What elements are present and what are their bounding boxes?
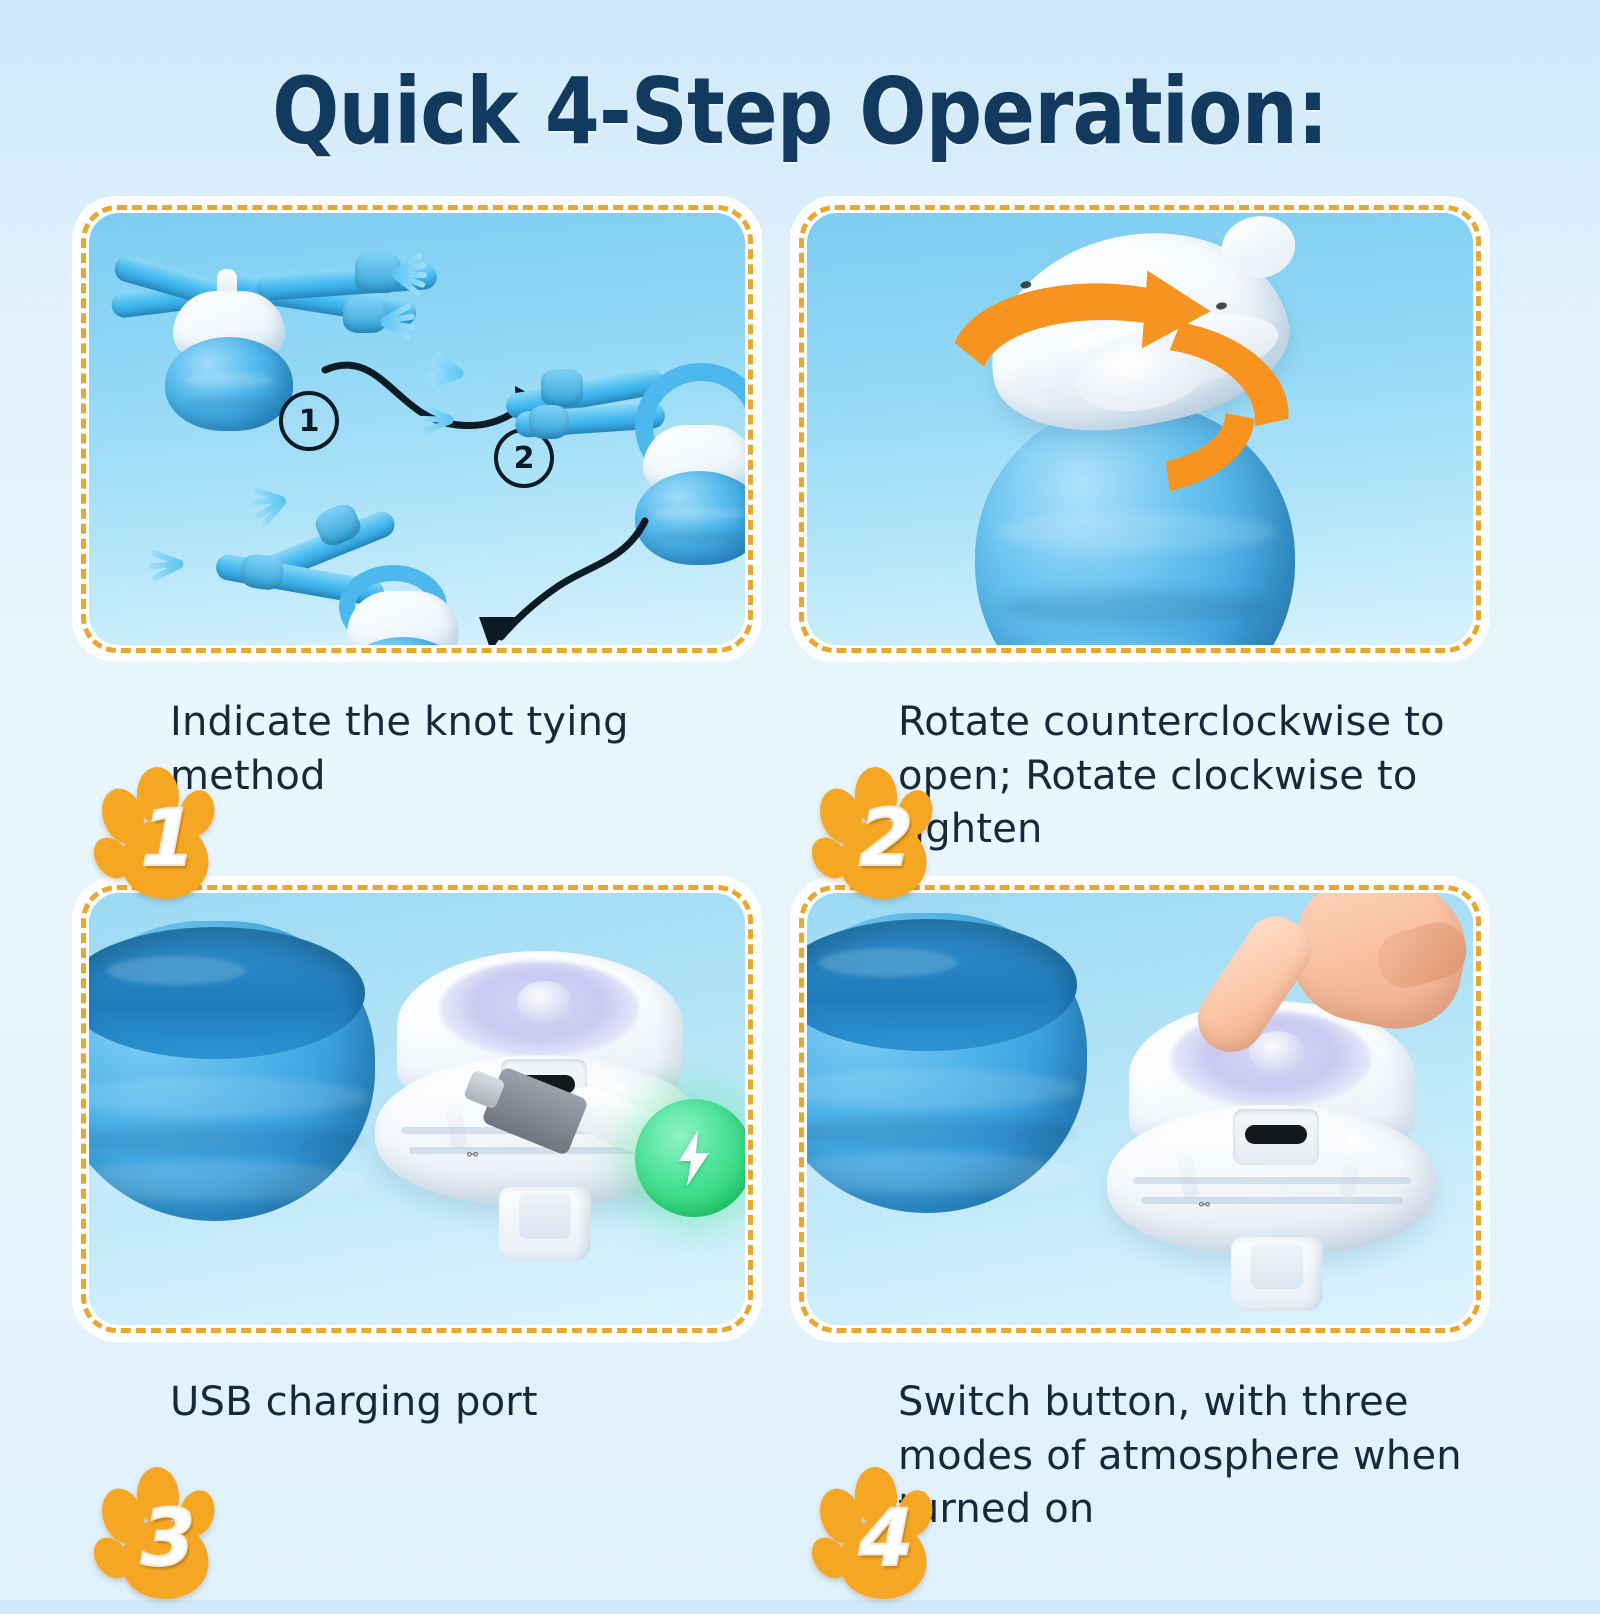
rope-toy-stage-3 (189, 463, 509, 645)
paw-badge-number: 3 (93, 1464, 243, 1614)
power-button[interactable] (517, 981, 573, 1023)
blue-cup-body (807, 913, 1087, 1213)
marker-1: 1 (279, 391, 339, 451)
step-4-caption: Switch button, with three modes of atmos… (898, 1376, 1480, 1537)
rotate-cap-illustration (807, 213, 1473, 645)
step-2-frame (790, 196, 1490, 662)
step-card-3: ⚯ 3 (72, 876, 762, 1556)
switch-button-illustration: ⚯ (807, 893, 1473, 1325)
step-2-caption: Rotate counterclockwise to open; Rotate … (898, 696, 1480, 857)
step-1-frame: 1 2 (72, 196, 762, 662)
blue-ball-body (975, 403, 1295, 645)
step-3-frame: ⚯ (72, 876, 762, 1342)
step-3-caption: USB charging port (170, 1376, 752, 1430)
toy-ball (339, 591, 467, 645)
step-card-1: 1 2 (72, 196, 762, 856)
charging-badge (635, 1099, 745, 1217)
step-1-caption: Indicate the knot tying method (170, 696, 752, 803)
blue-cup-body (89, 921, 375, 1221)
certification-mark: ⚯ (467, 1147, 477, 1163)
tassel-icon (393, 245, 463, 301)
step-card-4: ⚯ 4 Switch button, with three mode (790, 876, 1490, 1556)
tassel-icon (183, 541, 253, 591)
steps-grid: 1 2 (0, 0, 1600, 1600)
usb-charging-illustration: ⚯ (89, 893, 745, 1325)
knot-tying-illustration: 1 2 (89, 213, 745, 645)
paw-badge-3: 3 (90, 1458, 240, 1608)
hand-pressing-button (1163, 893, 1463, 1103)
paw-badge-number: 4 (811, 1464, 961, 1614)
paw-badge-4: 4 (808, 1458, 958, 1608)
paw-badge-2: 2 (808, 758, 958, 908)
tassel-icon (463, 351, 533, 401)
step-4-frame: ⚯ (790, 876, 1490, 1342)
toy-ball (165, 291, 293, 431)
lightning-bolt-icon (671, 1128, 717, 1188)
tassel-icon (453, 397, 523, 447)
tassel-icon (381, 297, 451, 353)
paw-badge-1: 1 (90, 758, 240, 908)
paw-badge-number: 2 (811, 764, 961, 914)
usb-c-port (1233, 1109, 1319, 1165)
certification-mark: ⚯ (1199, 1197, 1209, 1213)
paw-badge-number: 1 (93, 764, 243, 914)
white-cap-module (972, 213, 1303, 452)
tassel-icon (285, 477, 355, 527)
step-card-2: 2 Rotate counterclockwise to open; Rotat… (790, 196, 1490, 856)
